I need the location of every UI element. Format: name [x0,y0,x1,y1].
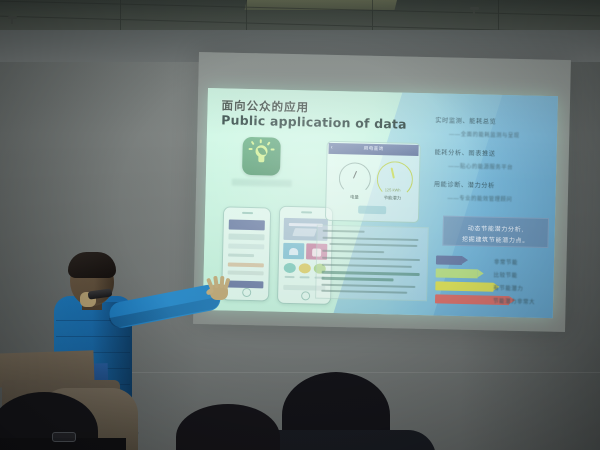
ceiling [0,0,600,34]
ceiling-tile-grid [0,0,600,34]
app-icon-caption [232,179,292,187]
lightbulb-app-icon [242,137,281,176]
sprinkler-head-right [470,7,479,10]
list-item-main-1: 实时监测、能耗总览 [435,115,496,125]
callout-line-1: 动态节能潜力分析, [444,223,548,234]
slide-callout-box: 动态节能潜力分析, 挖掘建筑节能潜力点。 [442,216,549,248]
circle-icon-teal [284,263,296,273]
list-item-main-3: 用能诊断、潜力分析 [434,179,495,189]
list-item-sub-1: ——全面的能耗监测与呈现 [449,130,520,140]
legend-label-4: 节能潜力非常大 [493,297,535,306]
gauge-right-label: 节能潜力 [364,195,420,202]
bulb-icon [253,145,269,164]
legend-label-1: 非常节能 [494,258,518,267]
slide-text-block [315,225,429,302]
list-item-sub-3: ——专业的能效管理顾问 [447,194,512,204]
audience-glasses [52,432,76,442]
phone-header-title: 用电查询 [329,145,419,153]
gauge-right-value: 125 kWh [365,187,421,193]
photo-scene: 面向公众的应用 Public application of data [0,0,600,450]
legend-label-3: 有节能潜力 [493,284,523,293]
presenter-hand [206,276,232,300]
sprinkler-head-left [8,16,17,19]
phone-action-button[interactable] [358,206,386,215]
projected-slide: 面向公众的应用 Public application of data [203,88,558,318]
list-item-main-2: 能耗分析、图表推送 [434,147,495,157]
presenter-hair [68,252,116,278]
phone-header-bar: 用电查询 [328,143,418,156]
callout-line-2: 挖掘建筑节能潜力点。 [443,234,547,245]
list-item-sub-2: ——贴心的能源服务平台 [448,162,513,172]
circle-icon-yellow [299,263,311,273]
legend-label-2: 比较节能 [494,271,518,280]
phone-mockup-gauges: 用电查询 ‹ 电量 125 kWh 节能潜力 [325,141,421,223]
